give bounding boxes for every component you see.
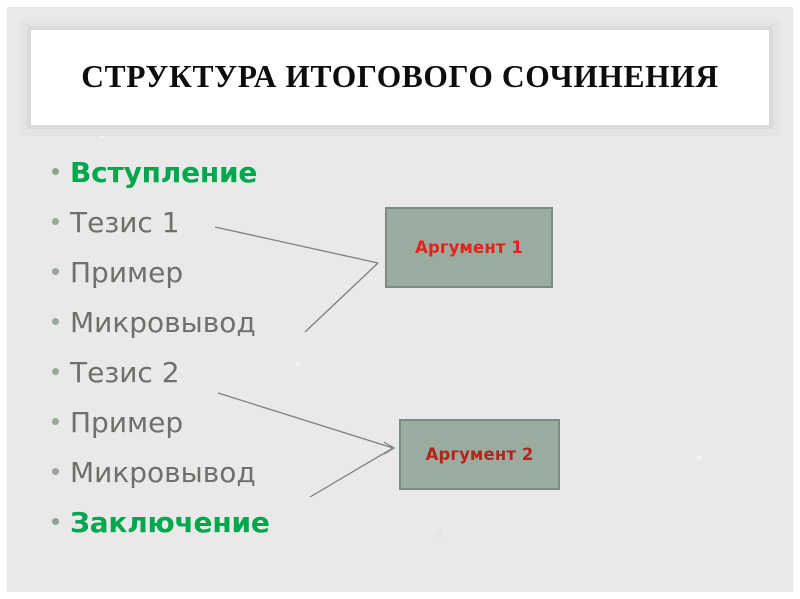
list-item-label: Тезис 1 <box>70 209 180 237</box>
list-item-label: Пример <box>70 409 183 437</box>
list-item-tezis-1[interactable]: Тезис 1 <box>52 209 382 259</box>
list-item-mikrovyvod-1[interactable]: Микровывод <box>52 309 382 359</box>
title-plate: СТРУКТУРА ИТОГОВОГО СОЧИНЕНИЯ <box>31 30 769 125</box>
list-item-label: Вступление <box>70 159 257 187</box>
list-item-mikrovyvod-2[interactable]: Микровывод <box>52 459 382 509</box>
page-title: СТРУКТУРА ИТОГОВОГО СОЧИНЕНИЯ <box>61 59 738 96</box>
outline-list: Вступление Тезис 1 Пример Микровывод Тез… <box>52 159 382 559</box>
argument-box-1[interactable]: Аргумент 1 <box>385 207 553 288</box>
list-item-tezis-2[interactable]: Тезис 2 <box>52 359 382 409</box>
bullet-dot-icon <box>52 268 59 275</box>
title-frame: СТРУКТУРА ИТОГОВОГО СОЧИНЕНИЯ <box>20 19 780 136</box>
bullet-dot-icon <box>52 368 59 375</box>
list-item-vstuplenie[interactable]: Вступление <box>52 159 382 209</box>
bullet-dot-icon <box>52 518 59 525</box>
bullet-dot-icon <box>52 168 59 175</box>
bullet-dot-icon <box>52 468 59 475</box>
list-item-label: Заключение <box>70 509 270 537</box>
argument-box-2[interactable]: Аргумент 2 <box>399 419 560 490</box>
bullet-dot-icon <box>52 318 59 325</box>
connector-arrowhead-icon <box>384 442 394 454</box>
slide: СТРУКТУРА ИТОГОВОГО СОЧИНЕНИЯ Аргумент 1… <box>0 0 800 599</box>
list-item-primer-2[interactable]: Пример <box>52 409 382 459</box>
list-item-label: Тезис 2 <box>70 359 180 387</box>
bullet-dot-icon <box>52 218 59 225</box>
list-item-label: Микровывод <box>70 459 256 487</box>
slide-canvas: СТРУКТУРА ИТОГОВОГО СОЧИНЕНИЯ Аргумент 1… <box>7 7 793 592</box>
title-frame-inner: СТРУКТУРА ИТОГОВОГО СОЧИНЕНИЯ <box>27 26 773 129</box>
argument-box-2-label: Аргумент 2 <box>426 445 534 464</box>
list-item-zaklyuchenie[interactable]: Заключение <box>52 509 382 559</box>
argument-box-1-label: Аргумент 1 <box>415 238 523 257</box>
list-item-label: Пример <box>70 259 183 287</box>
list-item-primer-1[interactable]: Пример <box>52 259 382 309</box>
list-item-label: Микровывод <box>70 309 256 337</box>
bullet-dot-icon <box>52 418 59 425</box>
